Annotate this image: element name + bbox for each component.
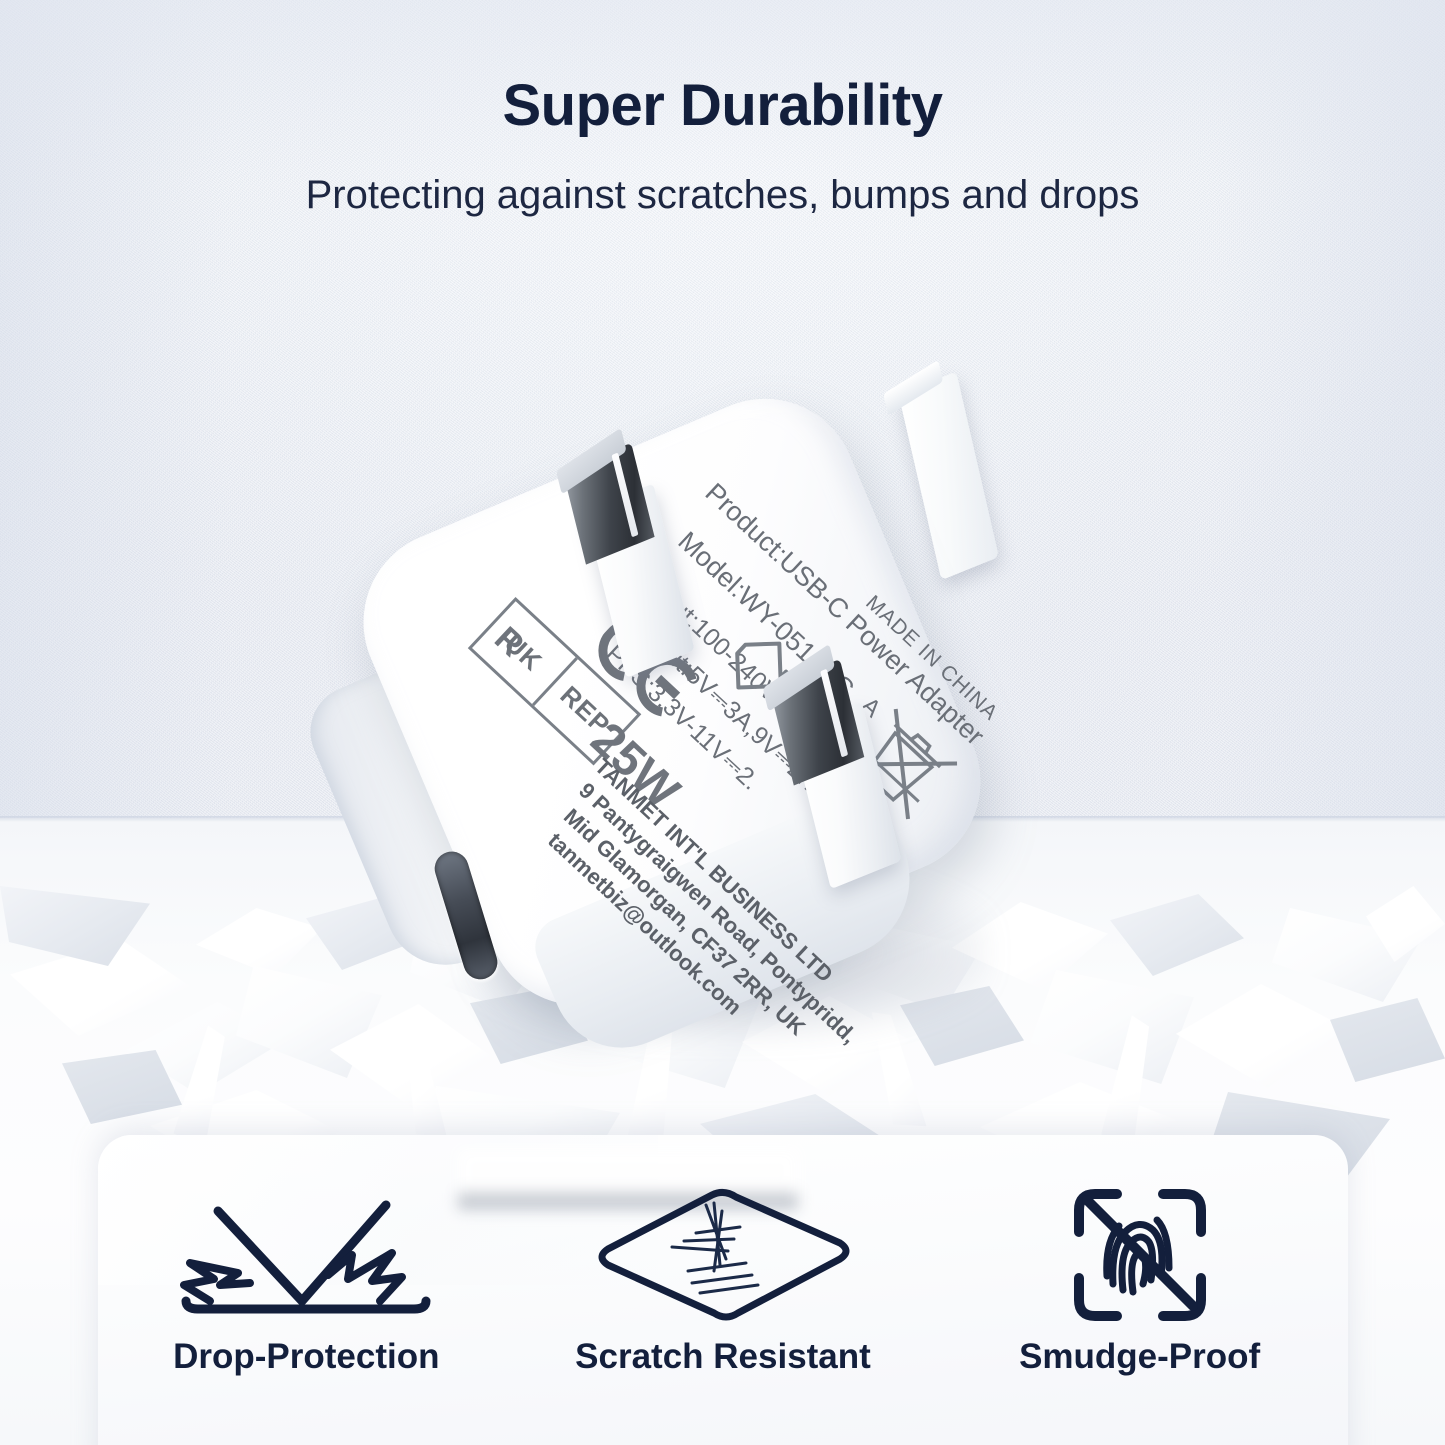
feature-smudge-proof: Smudge-Proof [970, 1181, 1310, 1377]
debris-shard [1330, 998, 1445, 1082]
debris-shard [1110, 894, 1244, 976]
drop-protection-icon [136, 1181, 476, 1329]
feature-drop-protection: Drop-Protection [136, 1181, 476, 1377]
heading-block: Super Durability Protecting against scra… [0, 0, 1445, 218]
debris-shard [1030, 970, 1194, 1084]
page-title: Super Durability [0, 72, 1445, 139]
feature-card: Drop-Protection [98, 1135, 1348, 1445]
page-subtitle: Protecting against scratches, bumps and … [0, 173, 1445, 218]
feature-label: Smudge-Proof [970, 1337, 1310, 1377]
scratch-resistant-icon [553, 1181, 893, 1329]
product-marketing-image: Super Durability Protecting against scra… [0, 0, 1445, 1445]
feature-scratch-resistant: Scratch Resistant [553, 1181, 893, 1377]
feature-label: Scratch Resistant [553, 1337, 893, 1377]
feature-list: Drop-Protection [98, 1135, 1348, 1445]
debris-shard [690, 906, 820, 986]
debris-shard [1176, 984, 1346, 1088]
debris-shard [306, 896, 426, 970]
debris-shard [196, 908, 322, 976]
debris-shard [600, 976, 760, 1088]
feature-label: Drop-Protection [136, 1337, 476, 1377]
smudge-proof-icon [970, 1181, 1310, 1329]
